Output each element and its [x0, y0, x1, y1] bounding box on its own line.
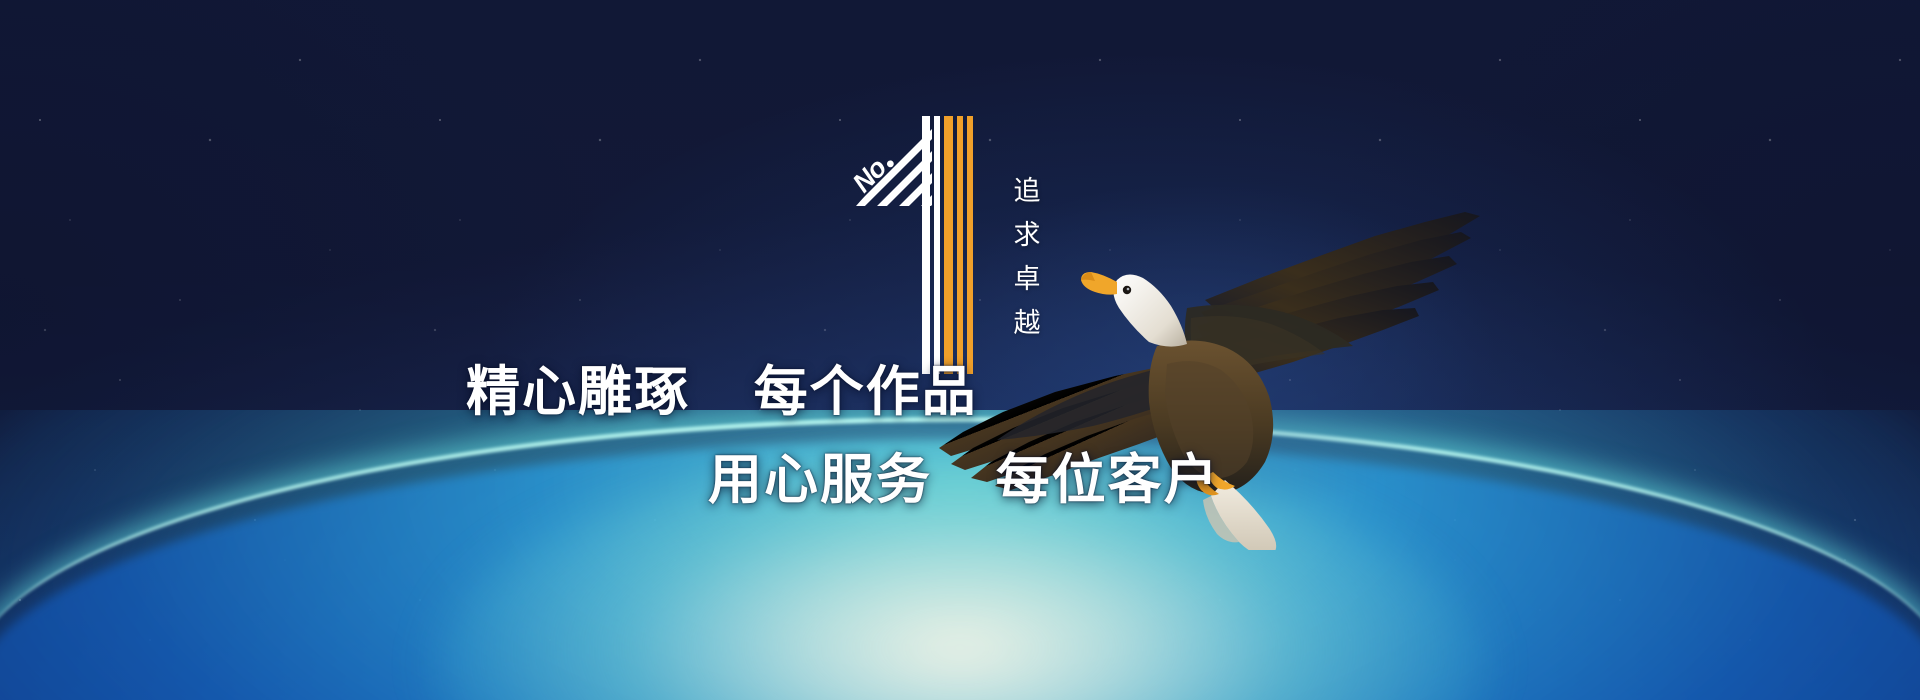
vertical-slogan-char-1: 追 — [1014, 178, 1041, 205]
hero-banner: No 追 求 卓 越 精心雕琢 每个作品 用心服务 — [0, 0, 1920, 700]
vertical-slogan: 追 求 卓 越 — [1007, 178, 1047, 337]
no1-logo: No — [838, 108, 988, 380]
logo-stripes — [922, 116, 973, 374]
vertical-slogan-char-2: 求 — [1014, 222, 1041, 249]
svg-text:No: No — [847, 153, 893, 199]
vertical-slogan-char-4: 越 — [1014, 310, 1041, 337]
vertical-slogan-char-3: 卓 — [1014, 266, 1041, 293]
